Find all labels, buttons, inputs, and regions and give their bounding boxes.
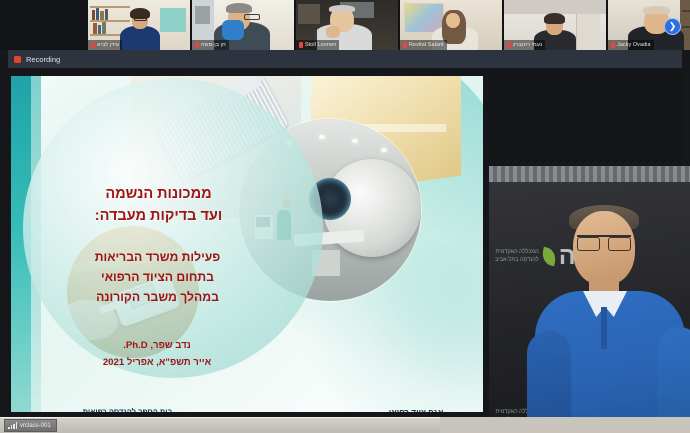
slide-title: ממכונות הנשמה ועד בדיקות מעבדה: xyxy=(51,184,266,228)
taskbar-tray xyxy=(440,417,690,433)
active-speaker-video[interactable]: אפקה המכללה האקדמית להנדסה בתל-אביב אפקה… xyxy=(489,166,690,433)
slide-decor-circle xyxy=(23,78,323,378)
participant-name: Stoll Loonen xyxy=(305,42,336,48)
slide-subtitle: פעילות משרד הבריאות בתחום הציוד הרפואי ב… xyxy=(45,248,270,307)
zoom-meeting-window: עידן לביא חן בן-משה xyxy=(0,0,690,433)
presentation-slide[interactable]: ממכונות הנשמה ועד בדיקות מעבדה: פעילות מ… xyxy=(11,76,483,412)
participant-name: עידן לביא xyxy=(97,42,119,48)
participant-tile[interactable]: נעמי רוזנברג xyxy=(504,0,606,50)
mic-muted-icon xyxy=(611,42,615,48)
participant-tile[interactable]: עידן לביא xyxy=(88,0,190,50)
dept-line-1: אגף ציוד רפואי xyxy=(351,406,481,412)
slide-title-line-2: ועד בדיקות מעבדה: xyxy=(51,206,266,228)
participant-nametag: חן בן-משה xyxy=(192,40,229,50)
participant-nametag: Stoll Loonen xyxy=(296,40,339,50)
participant-name: חן בן-משה xyxy=(201,42,226,48)
participant-nametag: עידן לביא xyxy=(88,40,122,50)
participant-tile[interactable]: Revital Salant xyxy=(400,0,502,50)
slide-subtitle-line-1: פעילות משרד הבריאות xyxy=(45,248,270,268)
slide-subtitle-line-2: בתחום הציוד הרפואי xyxy=(45,268,270,288)
speaker-person xyxy=(529,203,690,433)
participant-tile[interactable]: Stoll Loonen xyxy=(296,0,398,50)
participant-nametag: Jacky Ovadia xyxy=(608,40,654,50)
taskbar-network-item[interactable]: vrclass-001 xyxy=(4,419,57,432)
participant-nametag: נעמי רוזנברג xyxy=(504,40,545,50)
network-name: vrclass-001 xyxy=(20,423,51,429)
slide-department-affiliation: אגף ציוד רפואי משרד הבריאות xyxy=(351,406,481,412)
recording-label: Recording xyxy=(26,55,60,64)
mic-muted-icon xyxy=(403,42,407,48)
slide-title-line-1: ממכונות הנשמה xyxy=(51,184,266,206)
slide-author-block: נדב שפר, Ph.D. אייר תשפ"א, אפריל 2021 xyxy=(67,338,247,372)
glasses-icon xyxy=(577,235,631,247)
slide-author-name: נדב שפר, Ph.D. xyxy=(67,338,247,355)
participant-name: Jacky Ovadia xyxy=(617,42,651,48)
windows-taskbar: vrclass-001 xyxy=(0,417,690,433)
chevron-right-icon[interactable]: ❯ xyxy=(664,18,681,35)
school-line-1: בית הספר להנדסה רפואית xyxy=(25,406,230,412)
wifi-signal-icon xyxy=(8,422,17,429)
participant-nametag: Revital Salant xyxy=(400,40,447,50)
participant-name: נעמי רוזנברג xyxy=(513,42,542,48)
participant-filmstrip: עידן לביא חן בן-משה xyxy=(0,0,690,50)
participant-tile[interactable]: חן בן-משה xyxy=(192,0,294,50)
participant-name: Revital Salant xyxy=(409,42,444,48)
slide-date: אייר תשפ"א, אפריל 2021 xyxy=(67,355,247,372)
shared-screen-stage: ממכונות הנשמה ועד בדיקות מעבדה: פעילות מ… xyxy=(8,68,682,417)
slide-school-affiliation: בית הספר להנדסה רפואית "אפקה"- המכללה הא… xyxy=(25,406,230,412)
record-square-icon xyxy=(14,56,21,63)
mic-muted-icon xyxy=(91,42,95,48)
mic-muted-icon xyxy=(299,42,303,48)
mic-muted-icon xyxy=(195,42,199,48)
mic-muted-icon xyxy=(507,42,511,48)
slide-subtitle-line-3: במהלך משבר הקורונה xyxy=(45,288,270,308)
recording-indicator-bar: Recording xyxy=(8,50,682,68)
